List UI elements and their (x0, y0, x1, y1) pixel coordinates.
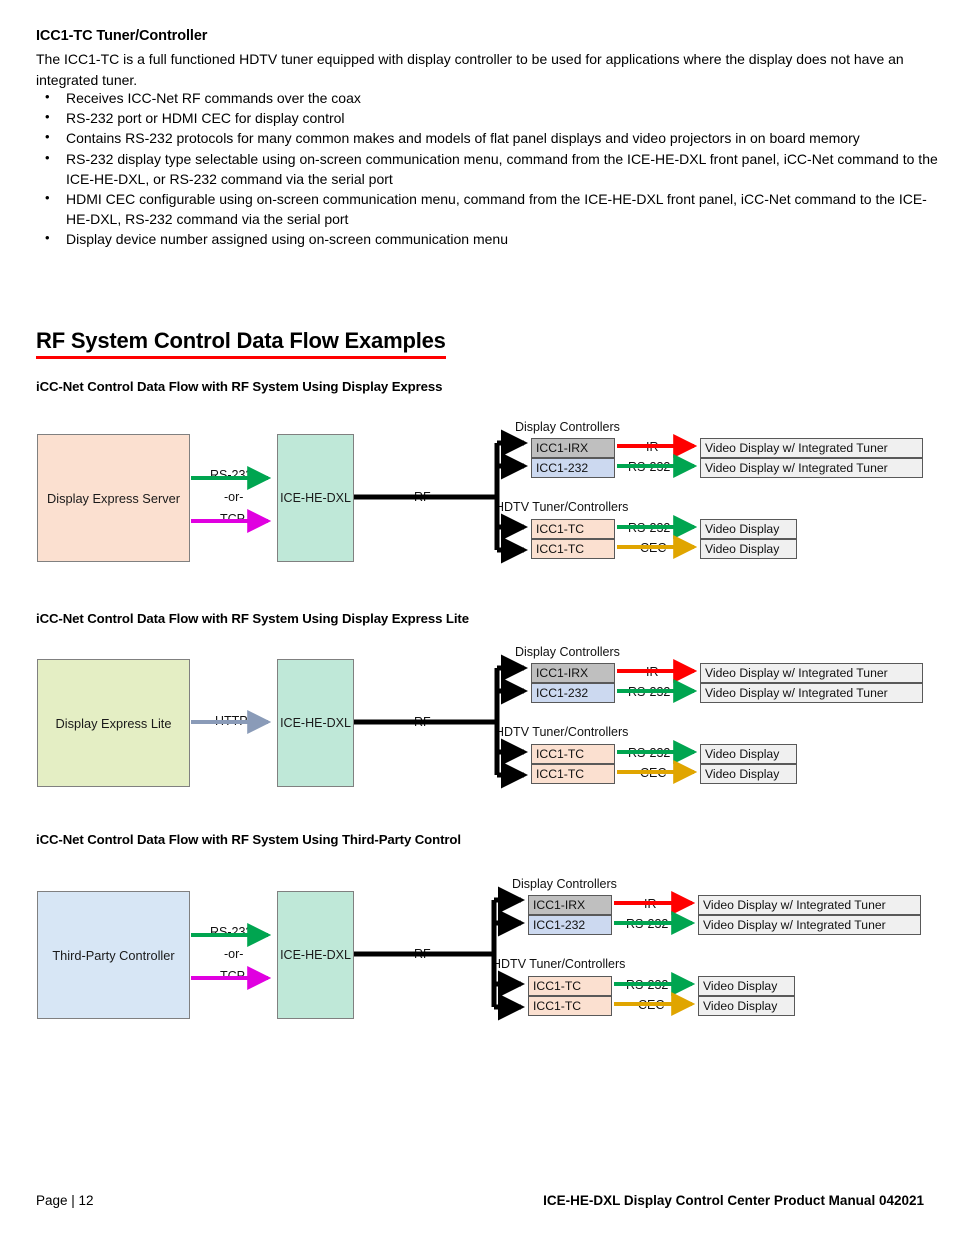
footer-manual-title: ICE-HE-DXL Display Control Center Produc… (543, 1193, 924, 1208)
document-page: ICC1-TC Tuner/Controller The ICC1-TC is … (0, 0, 954, 1235)
diagram-2-connectors (191, 668, 694, 775)
diagram-3-connectors (191, 900, 692, 1007)
diagram-1-connectors (191, 443, 694, 550)
footer-page-number: Page | 12 (36, 1193, 94, 1208)
diagram-connectors (0, 0, 954, 1235)
